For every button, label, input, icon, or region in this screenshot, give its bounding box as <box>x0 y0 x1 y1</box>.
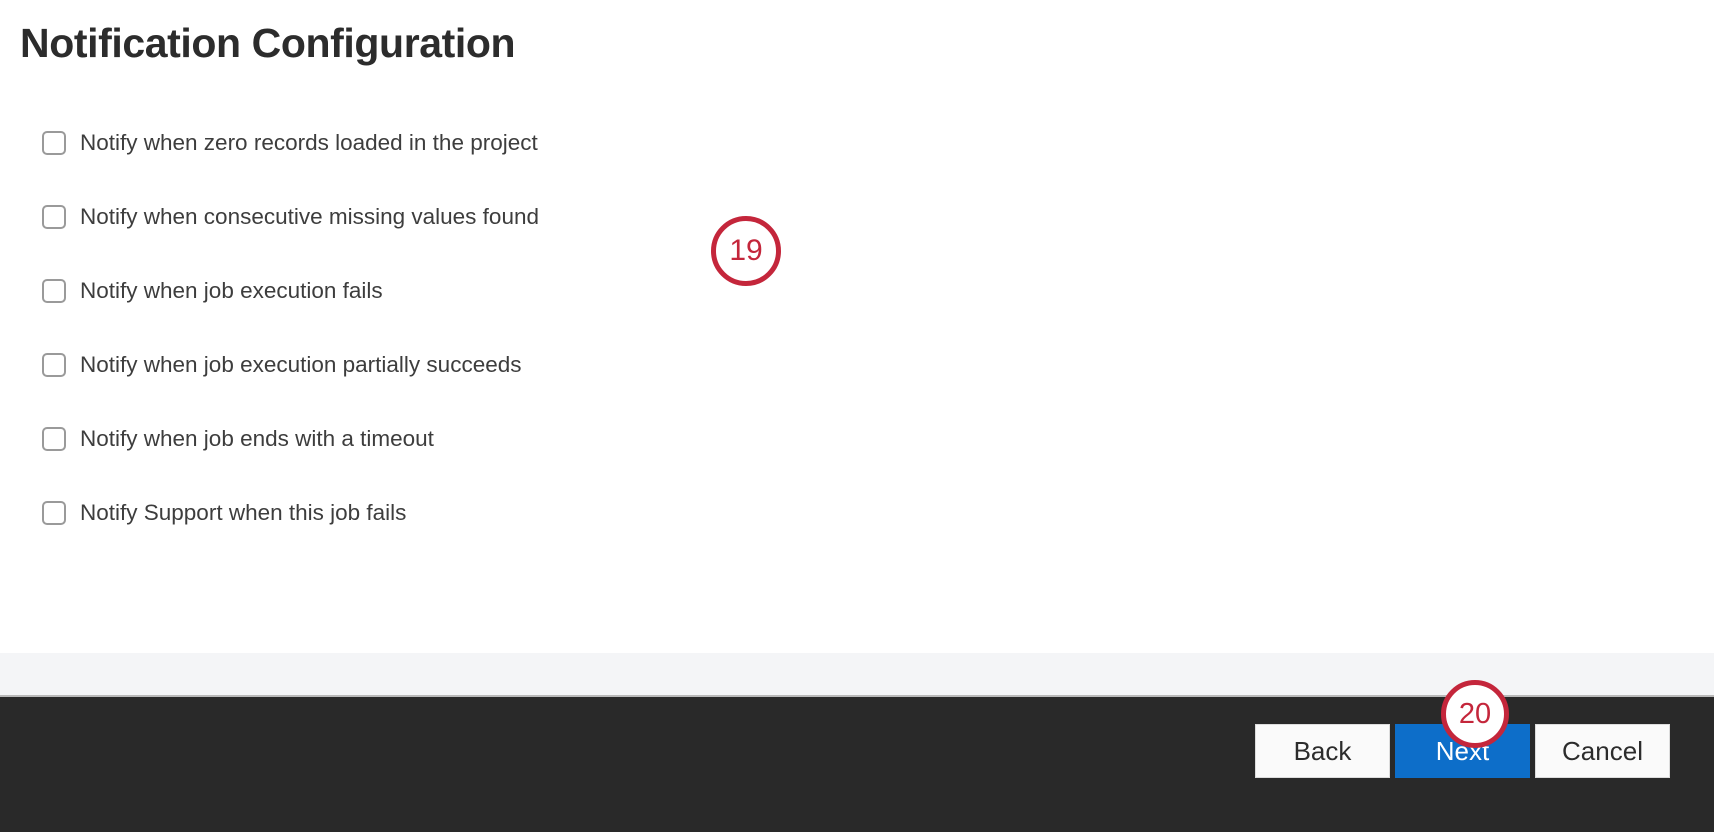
checkbox-unchecked-icon[interactable] <box>42 131 66 155</box>
notification-option-label: Notify when consecutive missing values f… <box>80 206 539 229</box>
notification-option-label: Notify when zero records loaded in the p… <box>80 132 538 155</box>
cancel-button[interactable]: Cancel <box>1535 724 1670 778</box>
notification-option-label: Notify when job execution partially succ… <box>80 354 522 377</box>
notification-option-row[interactable]: Notify Support when this job fails <box>42 498 539 528</box>
notification-option-row[interactable]: Notify when job ends with a timeout <box>42 424 539 454</box>
notification-option-label: Notify when job ends with a timeout <box>80 428 434 451</box>
checkbox-unchecked-icon[interactable] <box>42 427 66 451</box>
back-button[interactable]: Back <box>1255 724 1390 778</box>
notification-configuration-screen: Notification Configuration Notify when z… <box>0 0 1714 832</box>
separator-band <box>0 653 1714 697</box>
page-title: Notification Configuration <box>20 21 515 66</box>
notification-option-row[interactable]: Notify when job execution fails <box>42 276 539 306</box>
checkbox-unchecked-icon[interactable] <box>42 279 66 303</box>
notification-options-list: Notify when zero records loaded in the p… <box>42 128 539 528</box>
checkbox-unchecked-icon[interactable] <box>42 501 66 525</box>
content-panel: Notification Configuration Notify when z… <box>0 0 1714 653</box>
footer-bar: Back Next Cancel <box>0 697 1714 832</box>
notification-option-label: Notify Support when this job fails <box>80 502 406 525</box>
notification-option-row[interactable]: Notify when job execution partially succ… <box>42 350 539 380</box>
notification-option-row[interactable]: Notify when consecutive missing values f… <box>42 202 539 232</box>
footer-action-buttons: Back Next Cancel <box>1255 724 1670 778</box>
notification-option-label: Notify when job execution fails <box>80 280 383 303</box>
checkbox-unchecked-icon[interactable] <box>42 353 66 377</box>
checkbox-unchecked-icon[interactable] <box>42 205 66 229</box>
notification-option-row[interactable]: Notify when zero records loaded in the p… <box>42 128 539 158</box>
next-button[interactable]: Next <box>1395 724 1530 778</box>
